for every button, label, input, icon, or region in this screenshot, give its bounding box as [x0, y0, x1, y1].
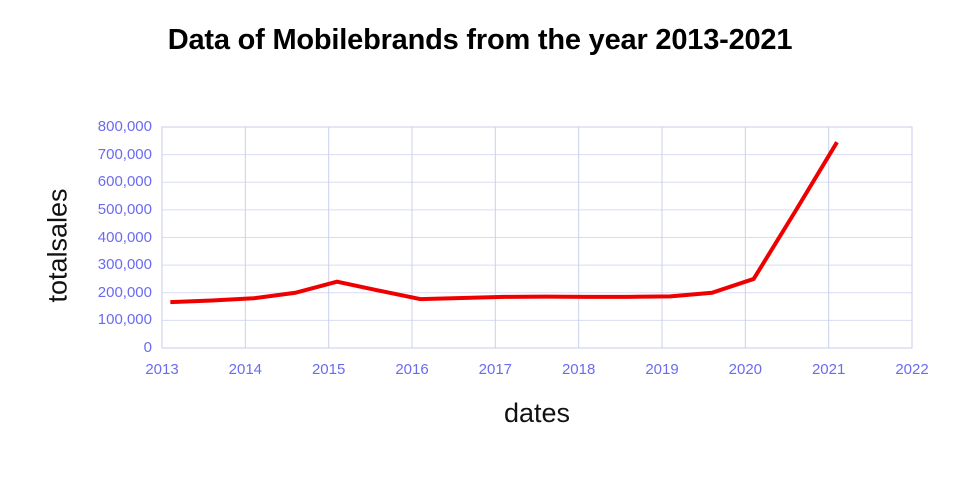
chart-figure: Data of Mobilebrands from the year 2013-… [0, 0, 960, 500]
x-tick-label: 2018 [539, 361, 619, 378]
x-tick-label: 2015 [289, 361, 369, 378]
y-tick-label: 100,000 [74, 311, 152, 328]
x-tick-label: 2021 [789, 361, 869, 378]
y-axis-title: totalsales [43, 136, 74, 356]
y-tick-label: 200,000 [74, 284, 152, 301]
x-tick-label: 2014 [205, 361, 285, 378]
y-tick-label: 800,000 [74, 118, 152, 135]
x-tick-label: 2020 [705, 361, 785, 378]
y-tick-label: 0 [74, 339, 152, 356]
x-tick-label: 2017 [455, 361, 535, 378]
data-line-totalsales [170, 142, 837, 302]
y-tick-label: 600,000 [74, 173, 152, 190]
y-tick-label: 500,000 [74, 201, 152, 218]
y-tick-label: 400,000 [74, 229, 152, 246]
y-tick-label: 700,000 [74, 146, 152, 163]
x-tick-label: 2013 [122, 361, 202, 378]
y-tick-label: 300,000 [74, 256, 152, 273]
x-tick-label: 2022 [872, 361, 952, 378]
grid-lines [162, 127, 912, 348]
x-tick-label: 2016 [372, 361, 452, 378]
x-axis-title: dates [0, 398, 960, 429]
x-tick-label: 2019 [622, 361, 702, 378]
